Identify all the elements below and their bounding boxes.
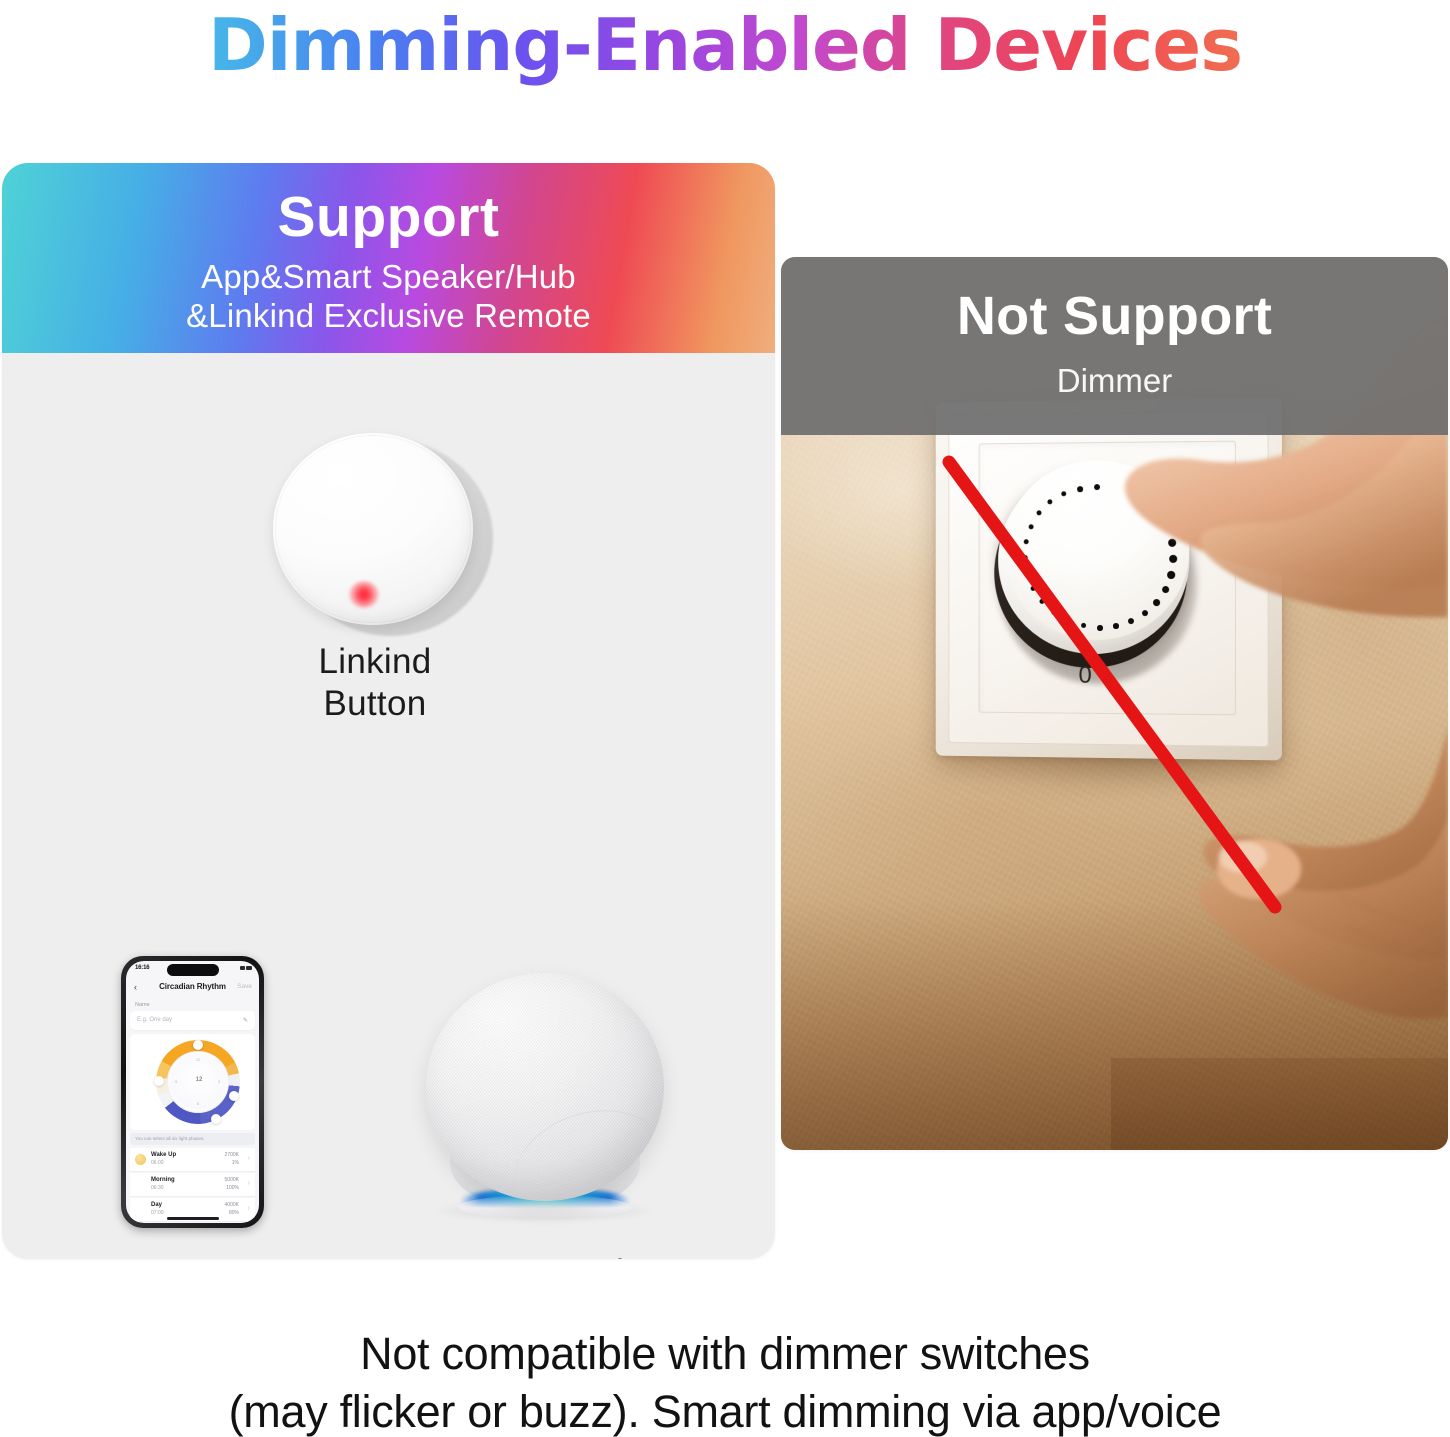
signal-icon xyxy=(240,966,245,970)
schedule-row-name: Day xyxy=(151,1202,162,1208)
speaker-label-line-1: Smart Speaker xyxy=(342,1252,752,1259)
chevron-right-icon: › xyxy=(248,1155,250,1162)
dial-tick-12: 12 xyxy=(196,1058,200,1062)
knob-tick-dot xyxy=(1162,586,1169,593)
schedule-row-time: 06:00 xyxy=(151,1160,164,1166)
schedule-row-time: 06:30 xyxy=(151,1185,164,1191)
not-support-subtitle: Dimmer xyxy=(781,361,1448,401)
name-field-label: Name xyxy=(135,1002,150,1008)
knob-tick-dot xyxy=(1029,524,1034,529)
smart-speaker-label: Smart Speaker Hub xyxy=(342,1252,752,1259)
support-header-title: Support xyxy=(2,185,775,249)
knob-tick-dot xyxy=(1097,625,1102,631)
status-bar-icons xyxy=(240,966,252,970)
page-title: Dimming-Enabled Devices xyxy=(0,2,1450,88)
schedule-row-brightness: 1% xyxy=(232,1160,239,1166)
app-label-line-1: App xyxy=(62,1252,322,1259)
support-panel-header: Support App&Smart Speaker/Hub &Linkind E… xyxy=(2,163,775,353)
save-button[interactable]: Save xyxy=(237,983,252,990)
support-header-subtitle: App&Smart Speaker/Hub &Linkind Exclusive… xyxy=(2,257,775,335)
phone-status-bar: 16:16 xyxy=(126,963,259,976)
dial-handle-morning[interactable] xyxy=(154,1076,164,1086)
infographic-root: Dimming-Enabled Devices Support App&Smar… xyxy=(0,0,1450,1437)
led-indicator-icon xyxy=(349,581,379,608)
support-sub-line-1: App&Smart Speaker/Hub xyxy=(2,257,775,296)
chevron-right-icon: › xyxy=(248,1205,250,1212)
knob-tick-dot xyxy=(1128,618,1134,624)
support-panel: Support App&Smart Speaker/Hub &Linkind E… xyxy=(2,163,775,1259)
knob-tick-dot xyxy=(1077,486,1082,492)
knob-tick-dot xyxy=(1031,586,1036,591)
knob-tick-dot xyxy=(1051,610,1056,615)
footer-caption: Not compatible with dimmer switches (may… xyxy=(0,1325,1450,1437)
knob-tick-dot xyxy=(1168,539,1176,547)
knob-tick-dot xyxy=(1024,539,1029,544)
dial-tick-9: 9 xyxy=(175,1080,177,1084)
linkind-label-line-1: Linkind xyxy=(195,641,555,683)
schedule-row-kelvin: 4000K xyxy=(225,1202,239,1208)
sun-icon xyxy=(135,1154,146,1165)
linkind-button-label: Linkind Button xyxy=(195,641,555,725)
knob-tick-dot xyxy=(1081,623,1086,628)
schedule-row-name: Morning xyxy=(151,1177,175,1183)
schedule-row[interactable]: Morning 06:30 5000K 100% › xyxy=(130,1173,255,1197)
edit-pencil-icon[interactable]: ✎ xyxy=(243,1017,248,1024)
linkind-button-device xyxy=(265,433,515,633)
footer-caption-line-1: Not compatible with dimmer switches xyxy=(0,1325,1450,1383)
battery-icon xyxy=(246,966,252,970)
schedule-row-kelvin: 2700K xyxy=(225,1152,239,1158)
dial-tick-6: 6 xyxy=(197,1102,199,1106)
phone-nav-bar: ‹ Circadian Rhythm Save xyxy=(126,978,259,998)
dial-tick-3: 3 xyxy=(218,1080,220,1084)
knob-tick-dot xyxy=(1153,599,1160,606)
knob-tick-dot xyxy=(1040,599,1045,604)
phase-hint: You can select all six light phases. xyxy=(130,1133,255,1145)
chevron-right-icon: › xyxy=(248,1180,250,1187)
knob-tick-dot xyxy=(1025,571,1030,576)
schedule-row-kelvin: 5000K xyxy=(225,1177,239,1183)
knob-tick-dot xyxy=(1061,491,1066,496)
not-support-title: Not Support xyxy=(781,285,1448,347)
switch-plate: 0 xyxy=(936,398,1282,761)
knob-tick-dot xyxy=(1142,610,1148,616)
dial-center-value: 12 xyxy=(192,1077,206,1083)
knob-tick-dot xyxy=(1065,618,1070,623)
footer-caption-line-2: (may flicker or buzz). Smart dimming via… xyxy=(0,1383,1450,1437)
knob-tick-dot xyxy=(1094,484,1100,490)
name-input[interactable]: E.g. One day ✎ xyxy=(130,1011,255,1030)
schedule-row[interactable]: Wake Up 06:00 2700K 1% › xyxy=(130,1148,255,1172)
home-indicator xyxy=(167,1217,219,1220)
knob-tick-dot xyxy=(1169,555,1177,563)
status-bar-time: 16:16 xyxy=(135,965,149,971)
schedule-row-brightness: 80% xyxy=(229,1210,239,1216)
knob-tick-dot xyxy=(1047,499,1052,504)
knob-tick-dot xyxy=(1113,623,1118,629)
phase-hint-text: You can select all six light phases. xyxy=(135,1136,205,1141)
circadian-dial-card: 12 12 3 6 9 xyxy=(130,1034,255,1130)
app-label: App xyxy=(62,1252,322,1259)
phone-screen: 16:16 ‹ Circadian Rhythm Save Name E.g. … xyxy=(126,961,259,1223)
wall-bottom-block xyxy=(1111,1058,1448,1150)
knob-tick-dot xyxy=(1023,555,1028,560)
dial-handle-night[interactable] xyxy=(211,1114,221,1124)
phone-notch xyxy=(167,964,219,976)
not-support-header: Not Support Dimmer xyxy=(781,257,1448,435)
dial-handle-day[interactable] xyxy=(229,1091,239,1101)
schedule-row-time: 07:00 xyxy=(151,1210,164,1216)
smartphone-device: 16:16 ‹ Circadian Rhythm Save Name E.g. … xyxy=(121,956,264,1228)
dial-handle-wake[interactable] xyxy=(193,1040,203,1050)
linkind-label-line-2: Button xyxy=(195,683,555,725)
knob-tick-dot xyxy=(1167,571,1175,579)
not-support-panel: 0 xyxy=(781,257,1448,1150)
smart-speaker-device xyxy=(412,973,677,1231)
name-input-placeholder: E.g. One day xyxy=(137,1017,172,1023)
support-sub-line-2: &Linkind Exclusive Remote xyxy=(2,296,775,335)
schedule-row-brightness: 100% xyxy=(226,1185,239,1191)
knob-zero-label: 0 xyxy=(1065,662,1105,690)
schedule-row-name: Wake Up xyxy=(151,1152,176,1158)
knob-tick-dot xyxy=(1037,510,1042,515)
